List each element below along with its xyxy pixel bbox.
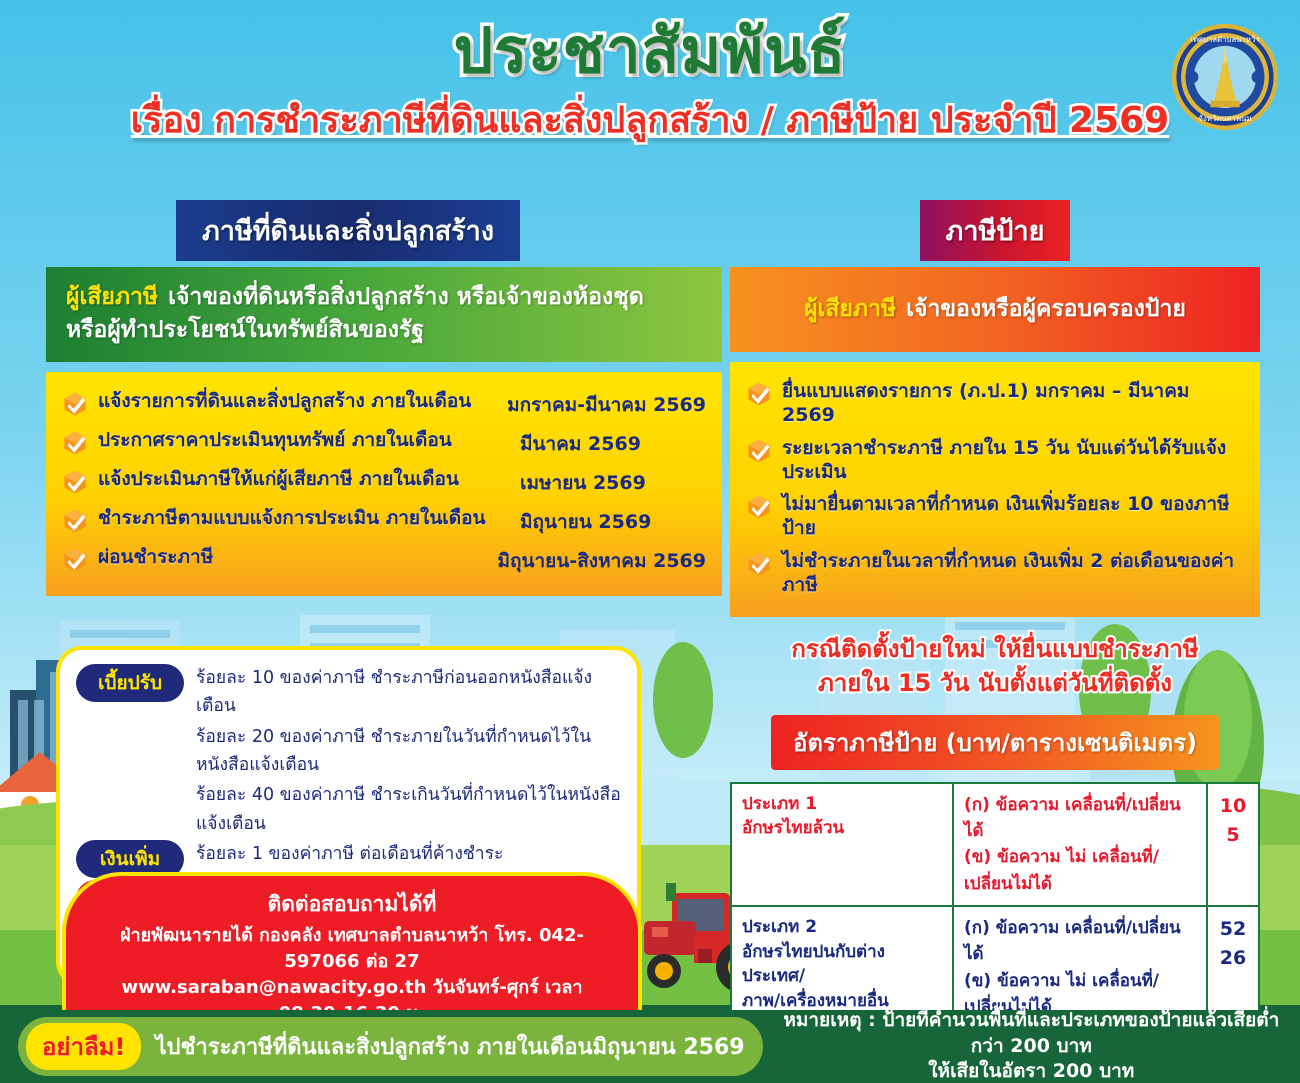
list-item-label: แจ้งรายการที่ดินและสิ่งปลูกสร้าง ภายในเด… — [98, 390, 471, 420]
page-title: ประชาสัมพันธ์ — [0, 18, 1300, 83]
footnote-line-1: หมายเหตุ : ป้ายที่คำนวนพื้นที่และประเภทข… — [773, 1008, 1290, 1059]
rate-value: 26 — [1218, 944, 1248, 973]
tree-mid — [653, 642, 713, 758]
check-badge-icon — [62, 508, 88, 534]
rate-condition-line: (ข) ข้อความ ไม่ เคลื่อนที่/เปลี่ยนไม่ได้ — [964, 844, 1196, 897]
reminder-pill: อย่าลืม! ไปชำระภาษีที่ดินและสิ่งปลูกสร้า… — [18, 1017, 763, 1076]
check-badge-icon — [62, 469, 88, 495]
rate-value: 10 — [1218, 792, 1248, 821]
rate-type-line: ประเภท 1 — [742, 792, 942, 817]
new-sign-note-line2: ภายใน 15 วัน นับตั้งแต่วันที่ติดตั้ง — [730, 667, 1260, 701]
footnote-line-2: ให้เสียในอัตรา 200 บาท — [773, 1059, 1290, 1083]
list-item-date: มกราคม-มีนาคม 2569 — [493, 390, 706, 420]
new-sign-note: กรณีติดตั้งป้ายใหม่ ให้ยื่นแบบชำระภาษี ภ… — [730, 633, 1260, 700]
reminder-text: ไปชำระภาษีที่ดินและสิ่งปลูกสร้าง ภายในเด… — [155, 1029, 744, 1064]
list-item-label: ไม่ชำระภายในเวลาที่กำหนด เงินเพิ่ม 2 ต่อ… — [782, 550, 1244, 598]
sign-tax-heading: ภาษีป้าย — [920, 200, 1071, 261]
land-payer-line1: เจ้าของที่ดินหรือสิ่งปลูกสร้าง หรือเจ้าข… — [168, 284, 644, 310]
seal-top-text: เทศบาลตำบลนาหว้า — [1190, 35, 1260, 44]
rate-condition-line: (ก) ข้อความ เคลื่อนที่/เปลี่ยนได้ — [964, 915, 1196, 968]
penalty-fine-line-1: ร้อยละ 10 ของค่าภาษี ชำระภาษีก่อนออกหนัง… — [196, 664, 621, 721]
check-badge-icon — [62, 391, 88, 417]
sign-payer-text: เจ้าของหรือผู้ครอบครองป้าย — [906, 296, 1186, 322]
list-item: แจ้งรายการที่ดินและสิ่งปลูกสร้าง ภายในเด… — [62, 390, 706, 420]
check-badge-icon — [746, 551, 772, 577]
list-item-label: ประกาศราคาประเมินทุนทรัพย์ ภายในเดือน — [98, 429, 452, 459]
list-item-label: ระยะเวลาชำระภาษี ภายใน 15 วัน นับแต่วันไ… — [782, 437, 1244, 485]
list-item-date: มิถุนายน 2569 — [506, 507, 706, 537]
bottom-bar: อย่าลืม! ไปชำระภาษีที่ดินและสิ่งปลูกสร้า… — [0, 1010, 1300, 1083]
check-badge-icon — [746, 494, 772, 520]
check-badge-icon — [62, 430, 88, 456]
penalty-fine-line-3: ร้อยละ 40 ของค่าภาษี ชำระเกินวันที่กำหนด… — [196, 781, 621, 838]
table-row: ประเภท 1 อักษรไทยล้วน (ก) ข้อความ เคลื่อ… — [731, 783, 1259, 906]
list-item-label: ยื่นแบบแสดงรายการ (ภ.ป.1) มกราคม – มีนาค… — [782, 380, 1244, 428]
page-subtitle: เรื่อง การชำระภาษีที่ดินและสิ่งปลูกสร้าง… — [0, 91, 1300, 148]
penalty-surcharge-line: ร้อยละ 1 ของค่าภาษี ต่อเดือนที่ค้างชำระ — [196, 840, 503, 868]
list-item: ชำระภาษีตามแบบแจ้งการประเมิน ภายในเดือน … — [62, 507, 706, 537]
check-badge-icon — [746, 438, 772, 464]
municipality-seal-logo: เทศบาลตำบลนาหว้า จังหวัดนครพนม — [1170, 22, 1280, 132]
land-tax-payer-band: ผู้เสียภาษีเจ้าของที่ดินหรือสิ่งปลูกสร้า… — [46, 267, 722, 362]
penalty-fine-row: ร้อยละ 40 ของค่าภาษี ชำระเกินวันที่กำหนด… — [76, 781, 621, 838]
land-tax-heading: ภาษีที่ดินและสิ่งปลูกสร้าง — [176, 200, 520, 261]
list-item: ระยะเวลาชำระภาษี ภายใน 15 วัน นับแต่วันไ… — [746, 437, 1244, 485]
land-payer-line2: หรือผู้ทำประโยชน์ในทรัพย์สินของรัฐ — [66, 314, 702, 347]
land-tax-checklist: แจ้งรายการที่ดินและสิ่งปลูกสร้าง ภายในเด… — [46, 372, 722, 596]
footnote: หมายเหตุ : ป้ายที่คำนวนพื้นที่และประเภทข… — [763, 1008, 1300, 1083]
contact-title: ติดต่อสอบถามได้ที่ — [90, 888, 614, 921]
land-tax-column: ภาษีที่ดินและสิ่งปลูกสร้าง ผู้เสียภาษีเจ… — [46, 200, 722, 596]
sign-payer-label: ผู้เสียภาษี — [804, 296, 896, 322]
reminder-badge: อย่าลืม! — [26, 1023, 141, 1070]
check-badge-icon — [746, 381, 772, 407]
list-item: ผ่อนชำระภาษี มิถุนายน-สิงหาคม 2569 — [62, 546, 706, 576]
rate-type-cell: ประเภท 1 อักษรไทยล้วน — [731, 783, 953, 906]
rate-table-title: อัตราภาษีป้าย (บาท/ตารางเซนติเมตร) — [771, 715, 1219, 770]
rate-value-cell: 10 5 — [1207, 783, 1259, 906]
rate-type-line: อักษรไทยปนกับต่างประเทศ/ — [742, 940, 942, 989]
seal-bottom-text: จังหวัดนครพนม — [1198, 114, 1251, 123]
list-item-date: เมษายน 2569 — [506, 468, 706, 498]
list-item: ไม่มายื่นตามเวลาที่กำหนด เงินเพิ่มร้อยละ… — [746, 493, 1244, 541]
page-header: ประชาสัมพันธ์ เรื่อง การชำระภาษีที่ดินแล… — [0, 0, 1300, 148]
list-item: ยื่นแบบแสดงรายการ (ภ.ป.1) มกราคม – มีนาค… — [746, 380, 1244, 428]
penalty-fine-row: ร้อยละ 20 ของค่าภาษี ชำระภายในวันที่กำหน… — [76, 723, 621, 780]
list-item-label: ไม่มายื่นตามเวลาที่กำหนด เงินเพิ่มร้อยละ… — [782, 493, 1244, 541]
rate-value: 5 — [1218, 821, 1248, 850]
list-item-label: แจ้งประเมินภาษีให้แก่ผู้เสียภาษี ภายในเด… — [98, 468, 459, 498]
list-item: ไม่ชำระภายในเวลาที่กำหนด เงินเพิ่ม 2 ต่อ… — [746, 550, 1244, 598]
check-badge-icon — [62, 547, 88, 573]
list-item-label: ชำระภาษีตามแบบแจ้งการประเมิน ภายในเดือน — [98, 507, 486, 537]
land-payer-label: ผู้เสียภาษี — [66, 284, 158, 310]
list-item: แจ้งประเมินภาษีให้แก่ผู้เสียภาษี ภายในเด… — [62, 468, 706, 498]
rate-condition-line: (ก) ข้อความ เคลื่อนที่/เปลี่ยนได้ — [964, 792, 1196, 845]
sign-tax-checklist: ยื่นแบบแสดงรายการ (ภ.ป.1) มกราคม – มีนาค… — [730, 362, 1260, 617]
rate-type-line: ประเภท 2 — [742, 915, 942, 940]
rate-condition-cell: (ก) ข้อความ เคลื่อนที่/เปลี่ยนได้ (ข) ข้… — [953, 783, 1207, 906]
new-sign-note-line1: กรณีติดตั้งป้ายใหม่ ให้ยื่นแบบชำระภาษี — [730, 633, 1260, 667]
list-item-date: มิถุนายน-สิงหาคม 2569 — [484, 546, 707, 576]
rate-type-line: อักษรไทยล้วน — [742, 816, 942, 841]
penalty-fine-line-2: ร้อยละ 20 ของค่าภาษี ชำระภายในวันที่กำหน… — [196, 723, 621, 780]
contact-line-1: ฝ่ายพัฒนารายได้ กองคลัง เทศบาลตำบลนาหว้า… — [90, 923, 614, 975]
penalty-fine-row: เบี้ยปรับ ร้อยละ 10 ของค่าภาษี ชำระภาษีก… — [76, 664, 621, 721]
sign-tax-column: ภาษีป้าย ผู้เสียภาษีเจ้าของหรือผู้ครอบคร… — [730, 200, 1260, 1083]
penalty-fine-label: เบี้ยปรับ — [76, 664, 184, 702]
rate-value: 52 — [1218, 915, 1248, 944]
list-item: ประกาศราคาประเมินทุนทรัพย์ ภายในเดือน มี… — [62, 429, 706, 459]
list-item-date: มีนาคม 2569 — [506, 429, 706, 459]
list-item-label: ผ่อนชำระภาษี — [98, 546, 213, 576]
sign-tax-payer-band: ผู้เสียภาษีเจ้าของหรือผู้ครอบครองป้าย — [730, 267, 1260, 352]
